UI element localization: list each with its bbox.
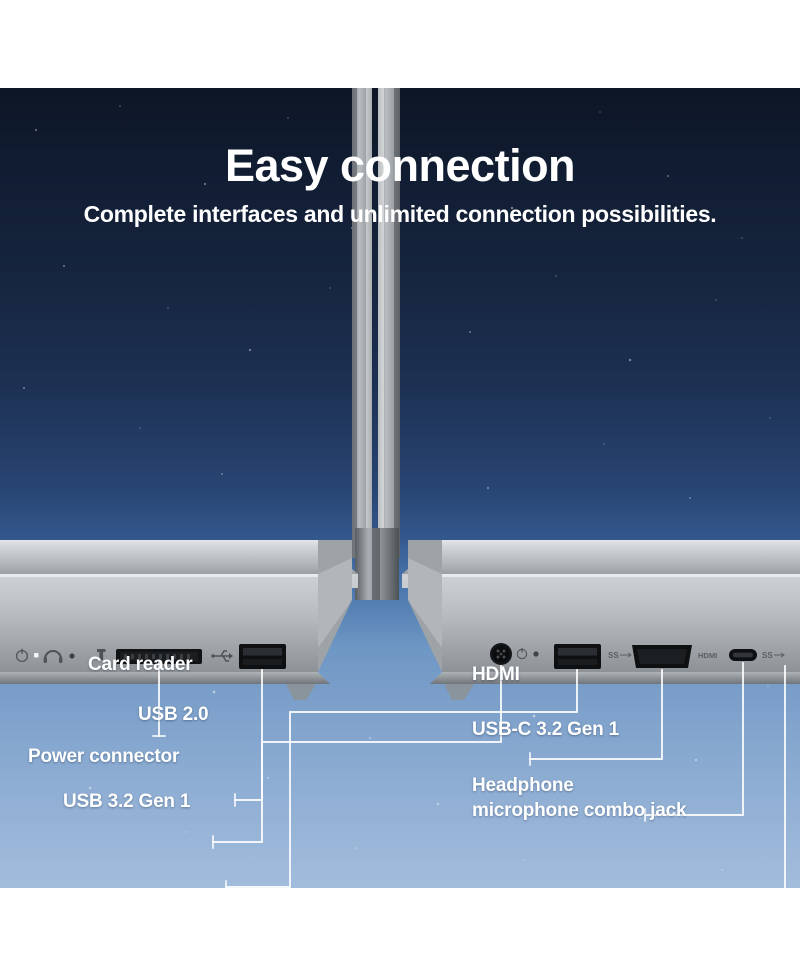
label-usb-2: USB 2.0 bbox=[138, 704, 208, 726]
label-headphone-line-1: Headphone bbox=[472, 775, 574, 796]
label-hdmi: HDMI bbox=[472, 664, 520, 686]
label-usb-c-32-gen1: USB-C 3.2 Gen 1 bbox=[472, 719, 619, 741]
label-power-connector: Power connector bbox=[28, 746, 179, 768]
product-feature-image: SS HDMI SS bbox=[0, 0, 800, 977]
label-usb-32-gen1: USB 3.2 Gen 1 bbox=[63, 791, 190, 813]
bottom-white-band bbox=[0, 888, 800, 977]
leader-lines bbox=[0, 88, 800, 888]
label-headphone-combo-jack: Headphone microphone combo jack bbox=[472, 773, 686, 823]
top-white-band bbox=[0, 0, 800, 88]
photo-canvas: SS HDMI SS bbox=[0, 88, 800, 888]
label-headphone-line-2: microphone combo jack bbox=[472, 800, 686, 821]
label-card-reader: Card reader bbox=[88, 654, 192, 676]
